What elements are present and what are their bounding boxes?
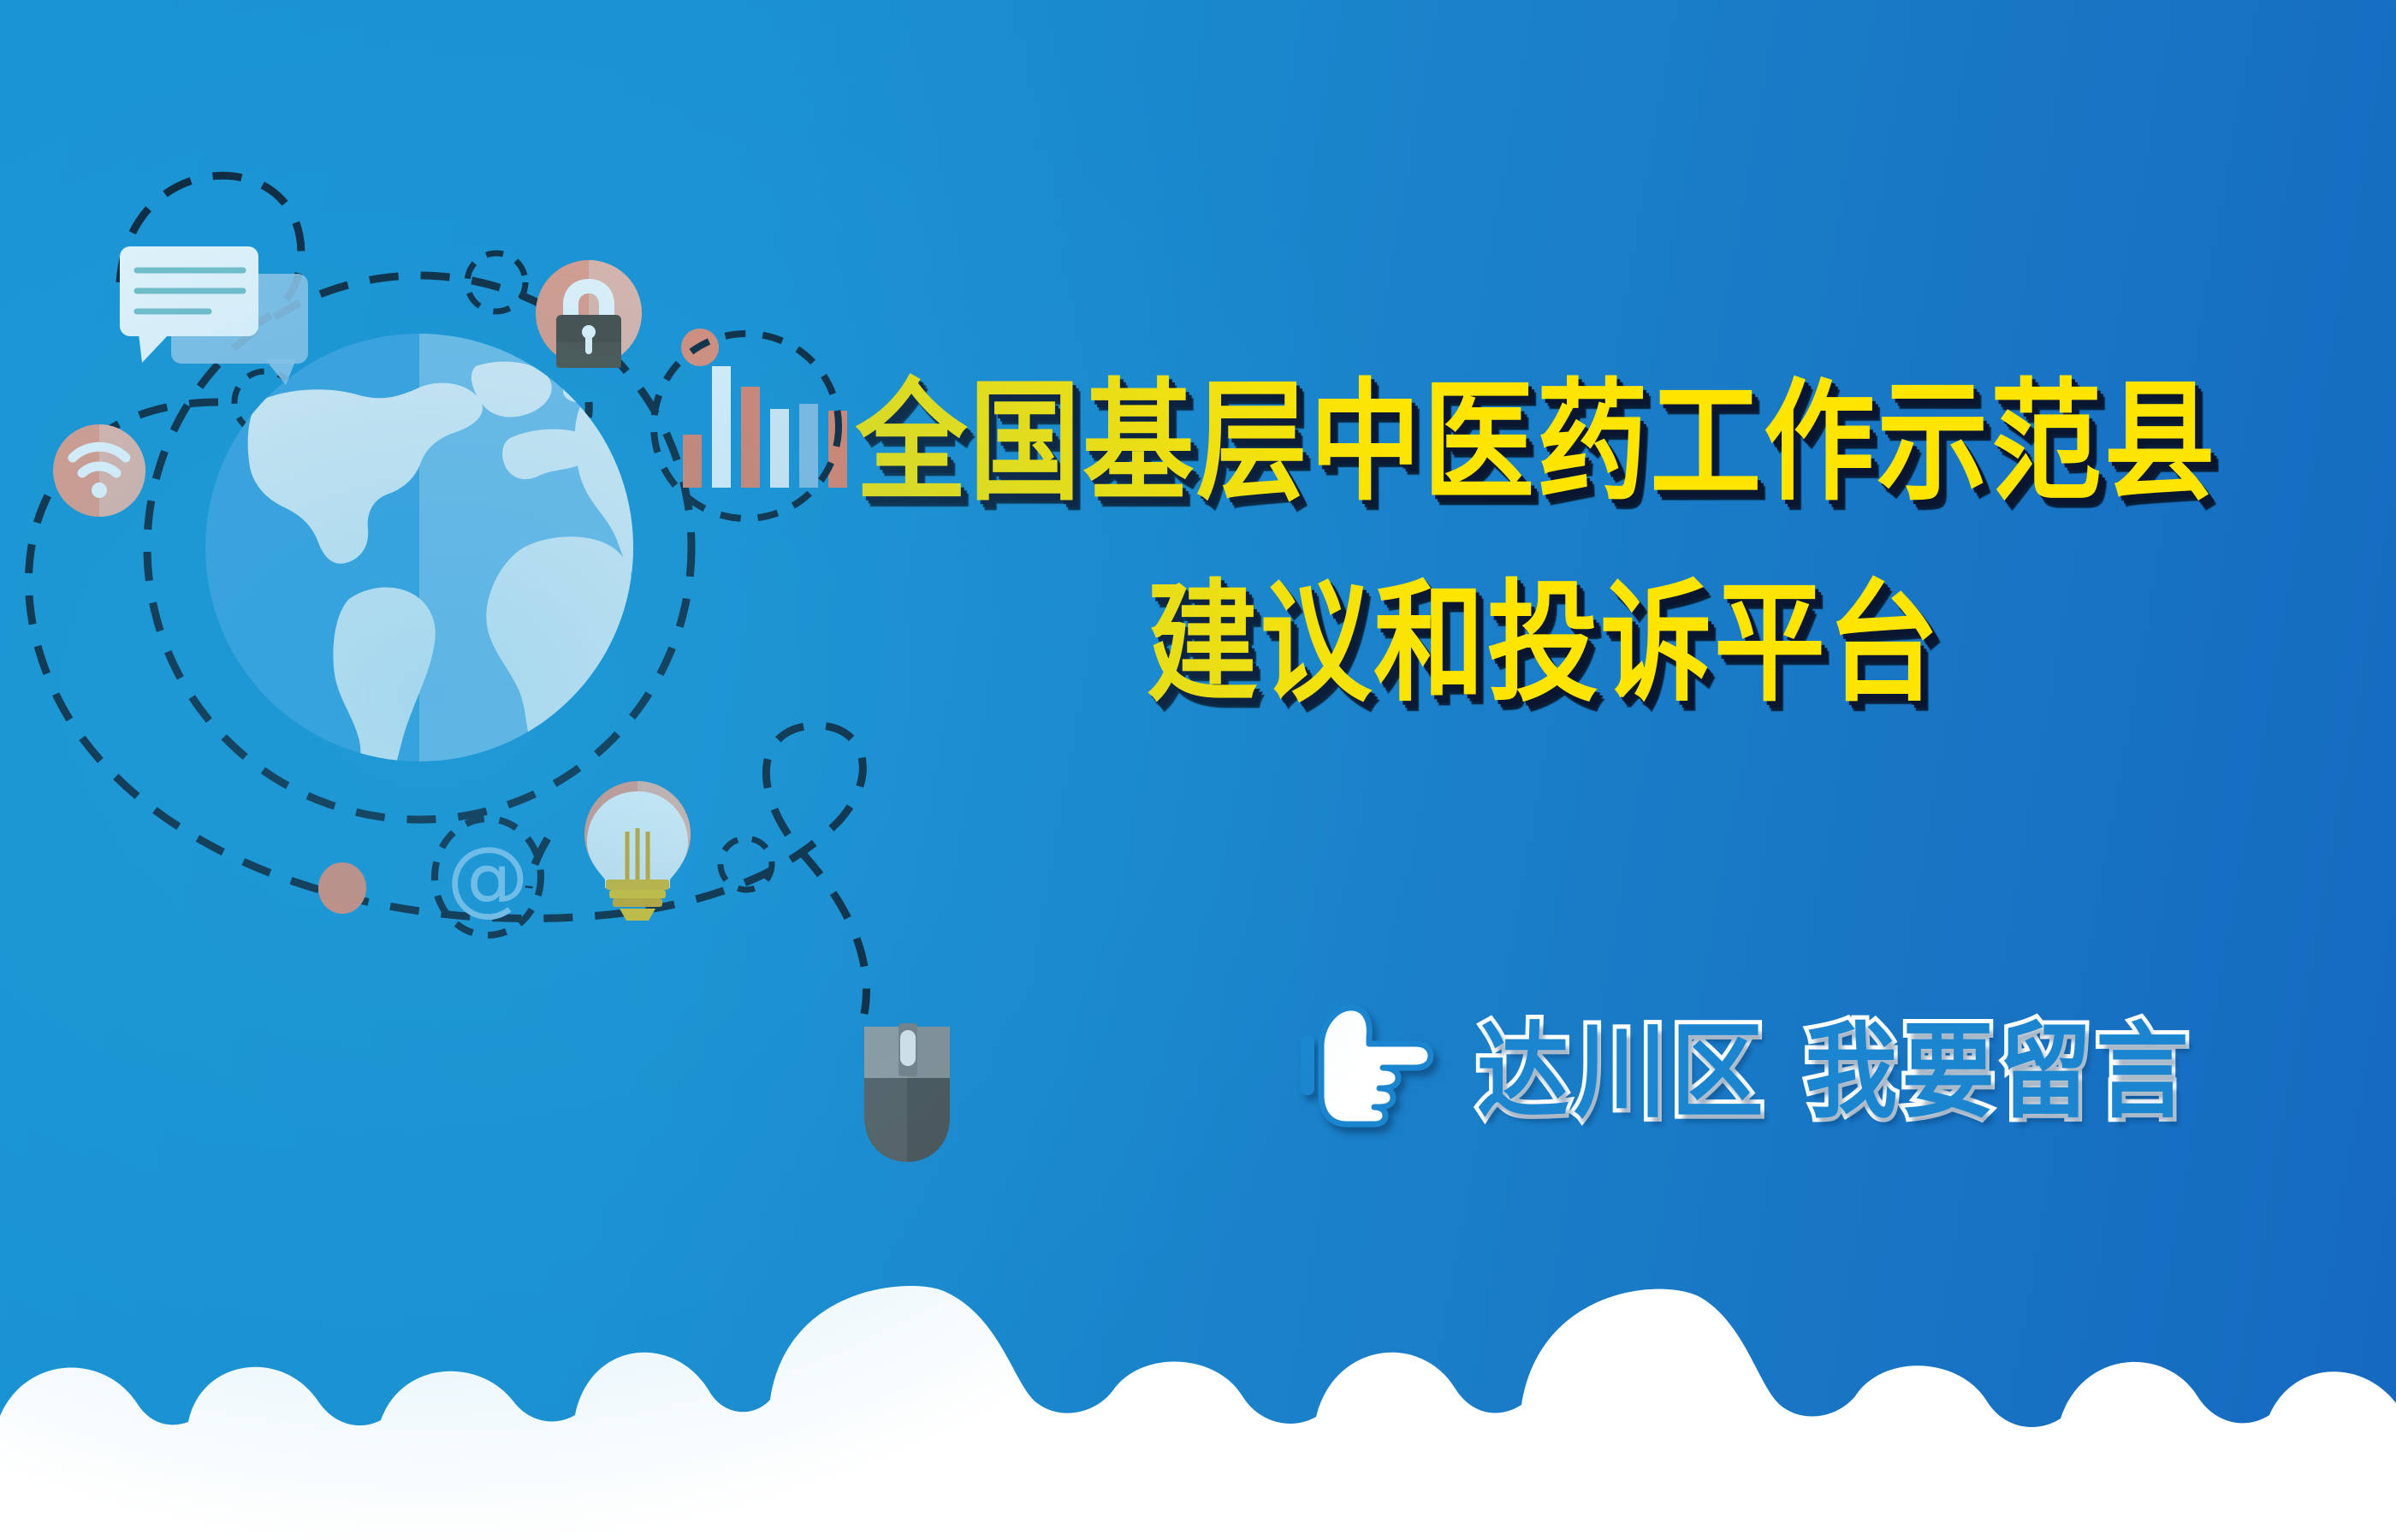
pointing-hand-icon <box>1301 999 1438 1128</box>
coral-dot-large <box>318 862 366 914</box>
lightbulb-icon <box>584 781 691 921</box>
wifi-icon <box>53 424 145 517</box>
poster-canvas: @ 全国基层中医药工作示范县 建议和投诉平台 达川区 我要留言 <box>0 0 2396 1540</box>
bar-chart-icon <box>683 366 847 488</box>
cloud-decoration <box>0 1232 2396 1540</box>
computer-mouse-icon <box>864 1023 950 1162</box>
page-title-line-1: 全国基层中医药工作示范县 <box>856 376 2328 507</box>
poster-title-block: 全国基层中医药工作示范县 建议和投诉平台 <box>856 376 2328 689</box>
cta-label[interactable]: 达川区 我要留言 <box>1477 989 2193 1139</box>
svg-text:@: @ <box>447 829 529 925</box>
at-sign-icon: @ <box>435 819 541 935</box>
page-title-line-2: 建议和投诉平台 <box>1147 577 2328 708</box>
lock-icon <box>536 260 642 368</box>
cta-row[interactable]: 达川区 我要留言 <box>1301 997 2193 1130</box>
